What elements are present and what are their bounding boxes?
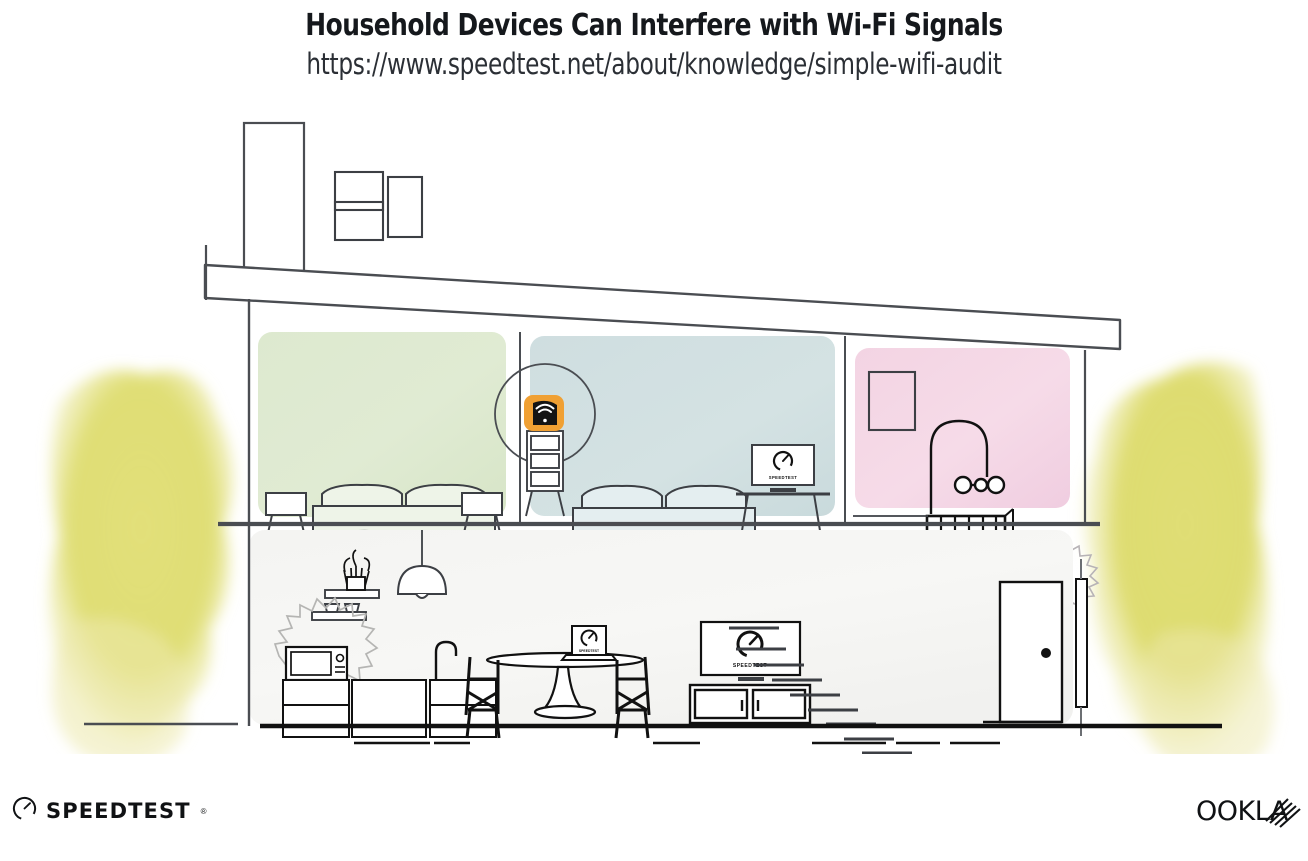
room-bedroom-center: SPEEDTEST — [495, 336, 835, 552]
speedtest-logo[interactable]: SPEEDTEST ® — [12, 796, 207, 826]
speedtest-trademark: ® — [201, 807, 207, 816]
monitor-screen-label: SPEEDTEST — [769, 475, 798, 480]
bedroom-monitor[interactable]: SPEEDTEST — [752, 445, 814, 492]
kitchen-counters — [283, 680, 496, 737]
foliage-right — [1082, 362, 1274, 754]
wall-art-frames — [335, 172, 422, 240]
speedtest-wordmark: SPEEDTEST — [46, 799, 191, 823]
laptop-screen-label: SPEEDTEST — [579, 649, 600, 653]
foliage-left — [49, 370, 233, 754]
header: Household Devices Can Interfere with Wi-… — [0, 0, 1308, 81]
footer: SPEEDTEST ® OOKLA — [0, 780, 1308, 861]
page-title: Household Devices Can Interfere with Wi-… — [111, 0, 1197, 43]
kitchen-shelf-upper — [325, 590, 379, 598]
house-illustration: SPEEDTEST — [0, 104, 1308, 754]
media-console — [690, 685, 810, 723]
door-knob — [1041, 648, 1051, 658]
side-window — [1076, 559, 1087, 736]
page-root: Household Devices Can Interfere with Wi-… — [0, 0, 1308, 861]
chimney — [244, 123, 304, 271]
source-url: https://www.speedtest.net/about/knowledg… — [131, 43, 1177, 81]
wifi-router[interactable] — [524, 395, 564, 431]
speedtest-gauge-icon — [12, 796, 37, 826]
microwave-oven[interactable] — [286, 647, 347, 680]
room-ground-floor: SPEEDTEST — [249, 524, 1087, 754]
ookla-logo[interactable]: OOKLA — [1196, 796, 1288, 827]
living-room-tv[interactable]: SPEEDTEST — [701, 622, 800, 681]
ookla-mark-icon — [1264, 797, 1304, 836]
